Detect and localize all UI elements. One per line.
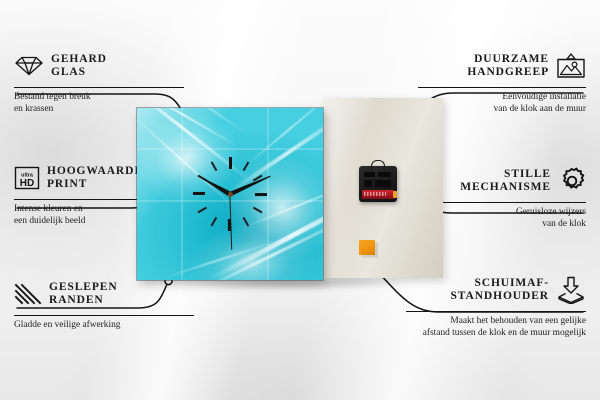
battery-label	[364, 192, 386, 196]
light-streak	[245, 108, 323, 166]
callout-header: STILLE MECHANISME	[418, 163, 586, 199]
glass-seam	[137, 148, 323, 150]
clock-minute-hand	[229, 174, 271, 196]
movement-slot	[378, 172, 391, 177]
framed-picture-icon	[556, 53, 586, 79]
movement-slot	[375, 180, 391, 187]
diagonal-lines-icon	[14, 283, 42, 305]
press-down-pad-icon	[556, 276, 586, 304]
foam-spacer-pad	[359, 240, 375, 255]
clock-battery	[362, 190, 394, 199]
callout-title: DUURZAME HANDGREEP	[418, 53, 549, 79]
callout-stille-mechanisme: STILLE MECHANISME Geruisloze wijzers van…	[418, 163, 586, 231]
ultra-hd-icon: ultra HD	[14, 166, 40, 190]
svg-text:HD: HD	[20, 178, 34, 189]
glass-seam	[181, 108, 183, 280]
clock-hand-cap	[228, 192, 233, 197]
callout-description: Gladde en veilige afwerking	[14, 320, 194, 332]
feather-plume	[185, 114, 323, 280]
movement-slot	[364, 180, 372, 187]
callout-header: GEHARD GLAS	[14, 48, 184, 84]
feather-plume	[137, 108, 272, 237]
glass-clock-front	[137, 108, 323, 280]
light-streak	[229, 108, 323, 194]
movement-slot	[364, 172, 375, 177]
clock-second-hand	[229, 194, 232, 250]
callout-title: GESLEPEN RANDEN	[49, 281, 118, 307]
light-streak	[137, 113, 236, 208]
light-streak	[137, 108, 239, 148]
callout-rule	[14, 87, 184, 88]
callout-title: GEHARD GLAS	[51, 53, 107, 79]
light-streak	[194, 209, 323, 280]
callout-rule	[406, 311, 586, 312]
diamond-icon	[14, 55, 44, 77]
callout-duurzame-handgreep: DUURZAME HANDGREEP Eenvoudige installati…	[418, 48, 586, 116]
infographic-canvas: GEHARD GLAS Bestand tegen breuk en krass…	[0, 0, 600, 400]
clock-movement	[359, 166, 397, 202]
feather-plume	[160, 197, 323, 280]
light-streak	[241, 179, 323, 230]
gear-icon	[558, 167, 586, 195]
light-streak	[137, 108, 251, 182]
light-streak	[156, 108, 248, 134]
callout-description: Geruisloze wijzers van de klok	[418, 207, 586, 230]
callout-description: Eenvoudige installatie van de klok aan d…	[418, 92, 586, 115]
glass-seam	[267, 108, 269, 280]
hanging-loop-icon	[371, 160, 385, 169]
callout-rule	[14, 315, 194, 316]
clock-hour-hand	[203, 177, 232, 196]
callout-header: DUURZAME HANDGREEP	[418, 48, 586, 84]
callout-rule	[418, 202, 586, 203]
callout-gehard-glas: GEHARD GLAS Bestand tegen breuk en krass…	[14, 48, 184, 116]
light-streak	[160, 238, 284, 280]
callout-rule	[418, 87, 586, 88]
clock-back-panel	[323, 98, 443, 278]
callout-description: Maakt het behouden van een gelijke afsta…	[406, 316, 586, 339]
